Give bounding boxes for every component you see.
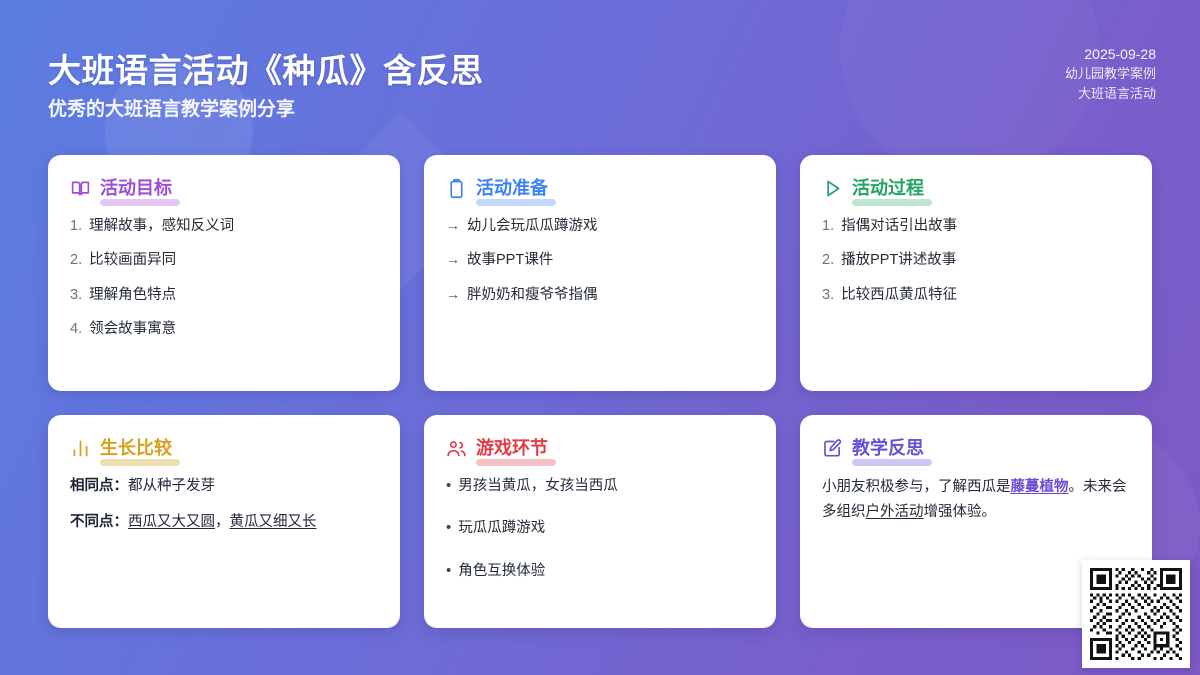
list-item-text: 角色互换体验 <box>458 560 545 582</box>
list-item: 1. 指偶对话引出故事 <box>822 215 1130 237</box>
list-marker: → <box>446 215 460 237</box>
card-header: 活动目标 <box>70 177 378 199</box>
list-item: 3. 理解角色特点 <box>70 284 378 306</box>
slide-header: 大班语言活动《种瓜》含反思 优秀的大班语言教学案例分享 2025-09-28 幼… <box>0 0 1200 142</box>
card-body: 相同点：都从种子发芽 不同点：西瓜又大又圆，黄瓜又细又长 <box>70 475 378 534</box>
users-icon <box>446 438 467 459</box>
list-item-text: 指偶对话引出故事 <box>841 215 957 237</box>
compare-value: 都从种子发芽 <box>128 478 215 494</box>
card-header: 教学反思 <box>822 437 1130 459</box>
card-title: 活动过程 <box>852 177 924 199</box>
list-item: → 胖奶奶和瘦爷爷指偶 <box>446 284 754 306</box>
list-item: 4. 领会故事寓意 <box>70 318 378 340</box>
reflection-part-3: 增强体验。 <box>924 504 997 520</box>
list-marker: 2. <box>822 249 834 271</box>
list-marker: 2. <box>70 249 82 271</box>
edit-square-icon <box>822 438 843 459</box>
compare-label: 不同点： <box>70 514 128 530</box>
list-marker: 4. <box>70 318 82 340</box>
title-underline <box>852 199 932 206</box>
reflection-text: 小朋友积极参与，了解西瓜是藤蔓植物。未来会多组织户外活动增强体验。 <box>822 475 1130 525</box>
card-title: 教学反思 <box>852 437 924 459</box>
title-underline <box>100 199 180 206</box>
compare-separator: ， <box>215 514 230 530</box>
card-process[interactable]: 活动过程 1. 指偶对话引出故事 2. 播放PPT讲述故事 3. 比较西瓜黄瓜特… <box>800 155 1152 391</box>
title-underline <box>852 459 932 466</box>
compare-same: 相同点：都从种子发芽 <box>70 475 378 497</box>
reflection-highlight: 藤蔓植物 <box>1011 479 1069 495</box>
list-marker: → <box>446 249 460 271</box>
card-preparation[interactable]: 活动准备 → 幼儿会玩瓜瓜蹲游戏 → 故事PPT课件 → 胖奶奶和瘦爷爷指偶 <box>424 155 776 391</box>
list-item-text: 胖奶奶和瘦爷爷指偶 <box>467 284 598 306</box>
meta-date: 2025-09-28 <box>1065 44 1156 64</box>
list-item-text: 幼儿会玩瓜瓜蹲游戏 <box>467 215 598 237</box>
compare-value-cucumber: 黄瓜又细又长 <box>230 514 317 530</box>
card-title: 活动准备 <box>476 177 548 199</box>
card-header: 活动准备 <box>446 177 754 199</box>
list-item-text: 理解故事，感知反义词 <box>89 215 234 237</box>
clipboard-icon <box>446 178 467 199</box>
meta-category: 幼儿园教学案例 <box>1065 64 1156 84</box>
list-marker: • <box>446 563 451 578</box>
list-item-text: 领会故事寓意 <box>89 318 176 340</box>
card-body: 1. 理解故事，感知反义词 2. 比较画面异同 3. 理解角色特点 4. 领会故… <box>70 215 378 341</box>
list-marker: → <box>446 284 460 306</box>
list-item: 1. 理解故事，感知反义词 <box>70 215 378 237</box>
card-goals[interactable]: 活动目标 1. 理解故事，感知反义词 2. 比较画面异同 3. 理解角色特点 4… <box>48 155 400 391</box>
list-marker: • <box>446 478 451 493</box>
list-item: 3. 比较西瓜黄瓜特征 <box>822 284 1130 306</box>
list-item: • 男孩当黄瓜，女孩当西瓜 <box>446 475 754 497</box>
card-growth-compare[interactable]: 生长比较 相同点：都从种子发芽 不同点：西瓜又大又圆，黄瓜又细又长 <box>48 415 400 628</box>
slide-root: 大班语言活动《种瓜》含反思 优秀的大班语言教学案例分享 2025-09-28 幼… <box>0 0 1200 675</box>
qr-code-image <box>1090 568 1182 660</box>
list-item: 2. 播放PPT讲述故事 <box>822 249 1130 271</box>
title-underline <box>100 459 180 466</box>
compare-diff: 不同点：西瓜又大又圆，黄瓜又细又长 <box>70 511 378 533</box>
compare-value-watermelon: 西瓜又大又圆 <box>128 514 215 530</box>
list-item: • 玩瓜瓜蹲游戏 <box>446 517 754 539</box>
list-marker: 3. <box>70 284 82 306</box>
card-body: • 男孩当黄瓜，女孩当西瓜 • 玩瓜瓜蹲游戏 • 角色互换体验 <box>446 475 754 582</box>
card-header: 活动过程 <box>822 177 1130 199</box>
list-item-text: 理解角色特点 <box>89 284 176 306</box>
card-header: 游戏环节 <box>446 437 754 459</box>
reflection-part-1: 小朋友积极参与，了解西瓜是 <box>822 479 1011 495</box>
list-marker: 1. <box>822 215 834 237</box>
card-grid: 活动目标 1. 理解故事，感知反义词 2. 比较画面异同 3. 理解角色特点 4… <box>48 155 1152 628</box>
card-title: 生长比较 <box>100 437 172 459</box>
header-meta: 2025-09-28 幼儿园教学案例 大班语言活动 <box>1065 44 1156 104</box>
reflection-underlined: 户外活动 <box>866 504 924 520</box>
card-body: 1. 指偶对话引出故事 2. 播放PPT讲述故事 3. 比较西瓜黄瓜特征 <box>822 215 1130 306</box>
list-item: → 幼儿会玩瓜瓜蹲游戏 <box>446 215 754 237</box>
list-item: • 角色互换体验 <box>446 560 754 582</box>
list-item-text: 玩瓜瓜蹲游戏 <box>458 517 545 539</box>
compare-label: 相同点： <box>70 478 128 494</box>
list-marker: 3. <box>822 284 834 306</box>
qr-code[interactable] <box>1082 560 1190 668</box>
bar-chart-icon <box>70 438 91 459</box>
list-marker: 1. <box>70 215 82 237</box>
list-item: 2. 比较画面异同 <box>70 249 378 271</box>
list-item-text: 故事PPT课件 <box>467 249 553 271</box>
page-subtitle: 优秀的大班语言教学案例分享 <box>48 94 295 121</box>
list-item: → 故事PPT课件 <box>446 249 754 271</box>
open-book-icon <box>70 178 91 199</box>
title-underline <box>476 459 556 466</box>
page-title: 大班语言活动《种瓜》含反思 <box>48 44 484 92</box>
list-item-text: 比较画面异同 <box>89 249 176 271</box>
list-marker: • <box>446 520 451 535</box>
card-title: 活动目标 <box>100 177 172 199</box>
list-item-text: 男孩当黄瓜，女孩当西瓜 <box>458 475 618 497</box>
card-body: 小朋友积极参与，了解西瓜是藤蔓植物。未来会多组织户外活动增强体验。 <box>822 475 1130 525</box>
card-game-session[interactable]: 游戏环节 • 男孩当黄瓜，女孩当西瓜 • 玩瓜瓜蹲游戏 • 角色互换体验 <box>424 415 776 628</box>
meta-subcategory: 大班语言活动 <box>1065 84 1156 104</box>
card-header: 生长比较 <box>70 437 378 459</box>
play-triangle-icon <box>822 178 843 199</box>
card-body: → 幼儿会玩瓜瓜蹲游戏 → 故事PPT课件 → 胖奶奶和瘦爷爷指偶 <box>446 215 754 306</box>
list-item-text: 播放PPT讲述故事 <box>841 249 956 271</box>
title-underline <box>476 199 556 206</box>
card-title: 游戏环节 <box>476 437 548 459</box>
list-item-text: 比较西瓜黄瓜特征 <box>841 284 957 306</box>
